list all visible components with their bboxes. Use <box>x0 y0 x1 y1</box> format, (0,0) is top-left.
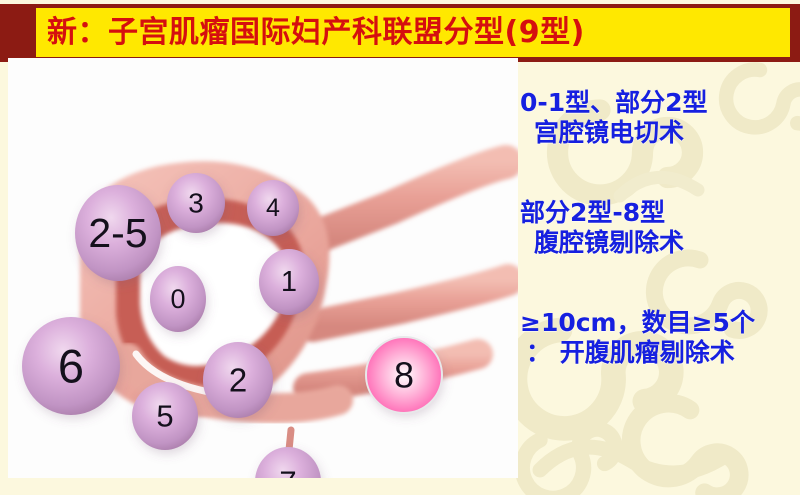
recommendation-2-line-2: 腹腔镜剔除术 <box>520 228 684 258</box>
recommendation-1-line-2: 宫腔镜电切术 <box>520 118 708 148</box>
recommendation-group-3: ≥10cm，数目≥5个 ： 开腹肌瘤剔除术 <box>520 308 755 367</box>
nodule-label: 7 <box>279 465 296 479</box>
diagram-panel: 2-5341026578 <box>8 58 518 478</box>
pedicle-stalk <box>289 430 291 450</box>
nodule-label: 3 <box>188 188 204 219</box>
recommendation-group-1: 0-1型、部分2型 宫腔镜电切术 <box>520 88 708 147</box>
nodule-label: 2 <box>229 362 247 399</box>
title-bar: 新：子宫肌瘤国际妇产科联盟分型(9型) <box>36 8 790 57</box>
nodule-label: 0 <box>170 284 185 314</box>
nodule-label: 5 <box>156 399 173 434</box>
recommendation-text-column: 0-1型、部分2型 宫腔镜电切术 部分2型-8型 腹腔镜剔除术 ≥10cm，数目… <box>520 70 798 470</box>
nodule-label: 6 <box>58 340 84 393</box>
nodule-label: 2-5 <box>88 210 147 256</box>
page-title: 新：子宫肌瘤国际妇产科联盟分型(9型) <box>36 18 585 48</box>
uterus-fibroid-diagram: 2-5341026578 <box>8 58 518 478</box>
recommendation-3-line-2: ： 开腹肌瘤剔除术 <box>520 338 755 368</box>
nodule-label: 8 <box>394 355 414 396</box>
nodule-label: 4 <box>266 194 280 222</box>
recommendation-1-line-1: 0-1型、部分2型 <box>520 88 708 118</box>
recommendation-3-line-1: ≥10cm，数目≥5个 <box>520 308 755 338</box>
recommendation-group-2: 部分2型-8型 腹腔镜剔除术 <box>520 198 684 257</box>
nodule-label: 1 <box>281 266 297 298</box>
slide-root: 新：子宫肌瘤国际妇产科联盟分型(9型) <box>0 0 800 495</box>
recommendation-2-line-1: 部分2型-8型 <box>520 198 684 228</box>
